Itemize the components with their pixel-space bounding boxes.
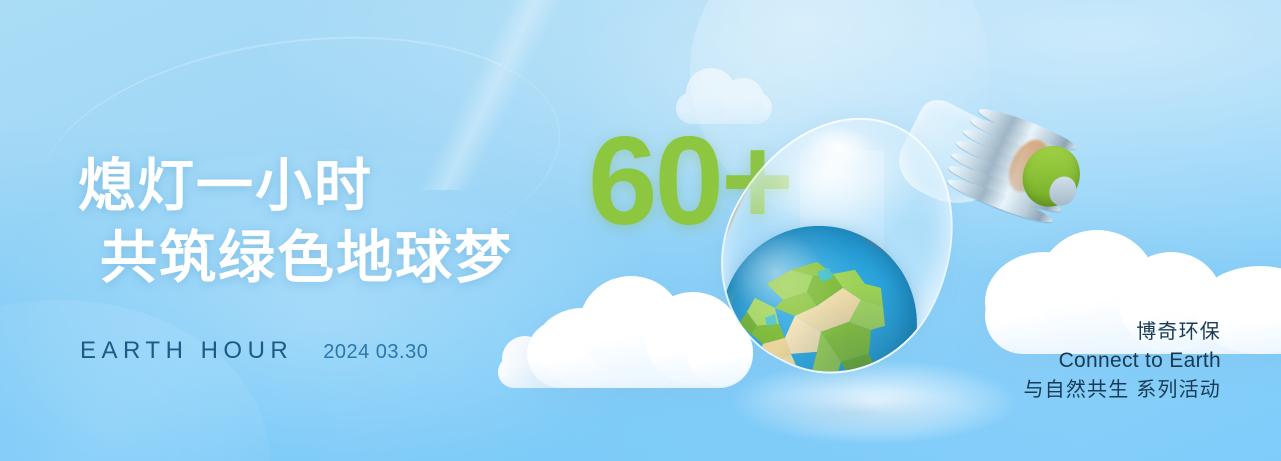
cloud-lobe [535, 308, 631, 386]
event-subline: EARTH HOUR 2024 03.30 [80, 337, 428, 365]
brand-slogan-en: Connect to Earth [1023, 346, 1221, 376]
cloud-base [498, 356, 590, 388]
event-date: 2024 03.30 [323, 341, 428, 364]
headline-line-2: 共筑绿色地球梦 [100, 222, 513, 294]
headline-block: 熄灯一小时 共筑绿色地球梦 [78, 150, 513, 294]
event-label: EARTH HOUR [80, 337, 293, 365]
brand-slogan-cn: 与自然共生 系列活动 [1023, 376, 1221, 404]
cloud-lobe [502, 336, 548, 382]
earth-hour-banner: 熄灯一小时 共筑绿色地球梦 EARTH HOUR 2024 03.30 60+ [0, 0, 1281, 461]
brand-block: 博奇环保 Connect to Earth 与自然共生 系列活动 [1023, 318, 1221, 405]
globe-shading [721, 226, 917, 411]
background-corner-glow [0, 300, 270, 461]
cloud-lobe [538, 344, 582, 384]
headline-line-1: 熄灯一小时 [78, 150, 513, 222]
cloud-icon-small [498, 330, 590, 388]
brand-company: 博奇环保 [1023, 318, 1221, 346]
cloud-lobe [686, 68, 736, 118]
earth-globe-icon [721, 226, 917, 411]
